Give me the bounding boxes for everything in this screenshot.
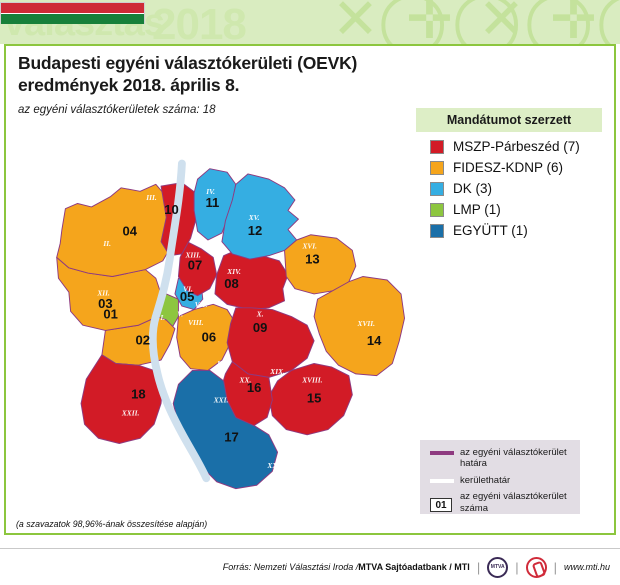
ker-border-label: kerülethatár — [460, 475, 510, 486]
map-svg[interactable]: II.III.XII.XI.XXII.I.V.VI.VII.VIII.IX.XI… — [8, 120, 408, 520]
map-kerulet-label-12: XIV. — [226, 267, 241, 276]
map-district-number-14: 14 — [367, 333, 382, 348]
legend-label-dk: DK (3) — [453, 181, 492, 196]
banner-year: 2018 — [152, 0, 246, 44]
map-district-number-09: 09 — [253, 320, 267, 335]
map-district-number-07: 07 — [188, 258, 203, 273]
map-district-18[interactable] — [81, 355, 163, 444]
map-district-number-13: 13 — [305, 251, 319, 266]
map-district-number-16: 16 — [247, 380, 261, 395]
symbol-legend-row-ovk-border: az egyéni választókerület határa — [430, 447, 572, 470]
map-kerulet-label-16: XVII. — [357, 319, 376, 328]
ballot-plus-icon-1: ✛ — [406, 0, 453, 44]
map-district-04[interactable] — [57, 184, 179, 276]
map-kerulet-label-8: VII. — [195, 300, 208, 309]
map-district-number-02: 02 — [136, 332, 151, 347]
map-district-number-15: 15 — [307, 391, 321, 406]
header-banner: ✕ ◯ ✛ ◯ ✕ ◯ ✛ ◯ választás 2018 — [0, 0, 620, 44]
legend-swatch-mszp — [430, 140, 444, 154]
source-bar: Forrás: Nemzeti Választási Iroda / MTVA … — [0, 548, 620, 585]
map-kerulet-label-10: IX. — [216, 359, 227, 368]
map-kerulet-label-4: XXII. — [121, 409, 140, 418]
legend-swatch-egyutt — [430, 224, 444, 238]
map-district-number-04: 04 — [122, 224, 137, 239]
map-kerulet-label-22: XXIII. — [266, 461, 287, 470]
budapest-map[interactable]: II.III.XII.XI.XXII.I.V.VI.VII.VIII.IX.XI… — [8, 120, 408, 520]
legend-swatch-fidesz — [430, 161, 444, 175]
source-bold: MTVA Sajtóadatbank / MTI — [358, 562, 470, 572]
map-district-number-05: 05 — [180, 289, 195, 304]
map-district-number-06: 06 — [202, 330, 217, 345]
hungarian-flag-icon — [0, 2, 145, 24]
legend-label-mszp: MSZP-Párbeszéd (7) — [453, 139, 580, 154]
legend-item-egyutt[interactable]: EGYÜTT (1) — [430, 223, 602, 238]
map-kerulet-label-3: XI. — [163, 356, 174, 365]
map-district-number-08: 08 — [224, 276, 239, 291]
map-kerulet-label-18: XIX. — [269, 367, 285, 376]
map-district-number-18: 18 — [131, 386, 146, 401]
legend-label-fidesz: FIDESZ-KDNP (6) — [453, 160, 563, 175]
legend-item-dk[interactable]: DK (3) — [430, 181, 602, 196]
ovk-border-line-icon — [430, 447, 460, 455]
ballot-x-icon-1: ✕ — [332, 0, 379, 44]
map-kerulet-label-15: XVI. — [301, 242, 317, 251]
map-district-number-11: 11 — [205, 195, 219, 210]
source-separator-1: | — [477, 560, 480, 575]
map-district-number-03: 03 — [98, 296, 113, 311]
ovk-number-label: az egyéni választókerület száma — [460, 491, 572, 514]
legend-item-fidesz[interactable]: FIDESZ-KDNP (6) — [430, 160, 602, 175]
map-kerulet-label-17: X. — [256, 310, 264, 319]
map-district-number-12: 12 — [248, 223, 262, 238]
map-kerulet-label-21: XXI. — [213, 396, 229, 405]
mtva-logo-icon: MTVA — [487, 557, 508, 578]
legend-item-mszp[interactable]: MSZP-Párbeszéd (7) — [430, 139, 602, 154]
ovk-number-box-icon: 01 — [430, 491, 460, 513]
map-district-number-10: 10 — [164, 202, 179, 217]
ballot-x-icon-2: ✕ — [478, 0, 525, 44]
map-kerulet-label-5: I. — [159, 313, 165, 322]
symbol-legend-row-ker-border: kerülethatár — [430, 475, 572, 486]
source-url: www.mti.hu — [564, 562, 610, 572]
map-kerulet-label-1: III. — [145, 193, 157, 202]
legend-swatch-lmp — [430, 203, 444, 217]
legend-rows: MSZP-Párbeszéd (7)FIDESZ-KDNP (6)DK (3)L… — [416, 132, 602, 238]
page-title: Budapesti egyéni választókerületi (OEVK)… — [18, 52, 438, 96]
infographic-root: ✕ ◯ ✛ ◯ ✕ ◯ ✛ ◯ választás 2018 Budapesti… — [0, 0, 620, 585]
map-kerulet-label-19: XVIII. — [301, 376, 322, 385]
legend-item-lmp[interactable]: LMP (1) — [430, 202, 602, 217]
source-separator-2: | — [515, 560, 518, 575]
ballot-plus-icon-2: ✛ — [550, 0, 597, 44]
legend-label-egyutt: EGYÜTT (1) — [453, 223, 528, 238]
mti-logo-icon — [526, 557, 547, 578]
map-kerulet-label-0: II. — [102, 239, 111, 248]
ovk-number-box-text: 01 — [430, 498, 452, 512]
page-subtitle: az egyéni választókerületek száma: 18 — [18, 103, 248, 118]
map-kerulet-label-9: VIII. — [188, 318, 204, 327]
ovk-border-label: az egyéni választókerület határa — [460, 447, 572, 470]
legend-swatch-dk — [430, 182, 444, 196]
party-legend: Mandátumot szerzett MSZP-Párbeszéd (7)FI… — [416, 108, 602, 244]
source-prefix: Forrás: Nemzeti Választási Iroda / — [223, 562, 359, 572]
map-kerulet-label-14: XV. — [248, 213, 260, 222]
map-district-number-17: 17 — [224, 430, 239, 445]
footnote: (a szavazatok 98,96%-ának összesítése al… — [16, 519, 207, 529]
legend-header: Mandátumot szerzett — [416, 108, 602, 132]
symbol-legend: az egyéni választókerület határa kerület… — [420, 440, 580, 514]
symbol-legend-row-ovk-number: 01 az egyéni választókerület száma — [430, 491, 572, 514]
source-separator-3: | — [554, 560, 557, 575]
map-kerulet-label-6: V. — [177, 310, 183, 319]
ballot-circle-icon-4: ◯ — [596, 0, 620, 44]
ker-border-line-icon — [430, 475, 460, 483]
legend-label-lmp: LMP (1) — [453, 202, 501, 217]
